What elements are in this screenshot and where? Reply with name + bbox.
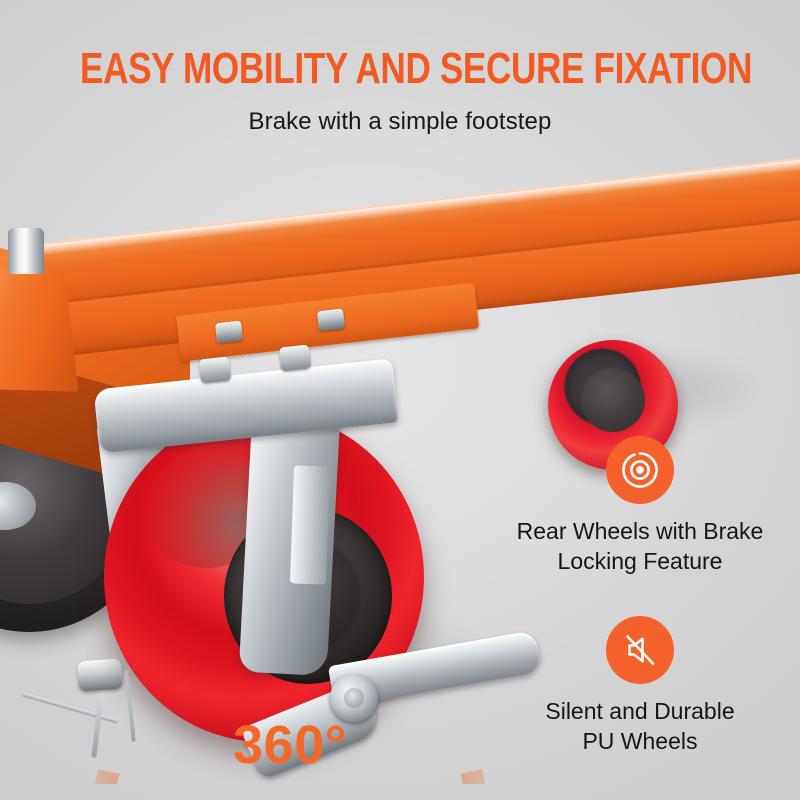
cotter-pin-clip <box>77 659 123 692</box>
feature-brake-locking: Rear Wheels with Brake Locking Feature <box>490 436 790 576</box>
page-title: EASY MOBILITY AND SECURE FIXATION <box>80 44 720 94</box>
feature-silent-wheels: Silent and Durable PU Wheels <box>490 616 790 756</box>
brake-latch-tab <box>290 465 330 584</box>
rear-wheel-hub <box>581 368 645 432</box>
rotation-badge: 360° <box>75 688 505 788</box>
feature-label-line-2: PU Wheels <box>582 728 697 754</box>
feature-label: Rear Wheels with Brake Locking Feature <box>490 516 790 576</box>
page-subtitle: Brake with a simple footstep <box>0 106 800 138</box>
fork-bolt <box>199 356 231 383</box>
brake-disc-icon <box>606 436 674 504</box>
fork-bolt <box>279 344 311 371</box>
feature-label-line-2: Locking Feature <box>558 548 723 574</box>
feature-label-line-1: Silent and Durable <box>545 698 734 724</box>
frame-beam-end-cap <box>0 268 78 392</box>
feature-label: Silent and Durable PU Wheels <box>490 696 790 756</box>
mount-bolt <box>215 321 243 344</box>
product-feature-banner: EASY MOBILITY AND SECURE FIXATION Brake … <box>0 0 800 800</box>
mute-speaker-icon <box>606 616 674 684</box>
mount-bolt <box>317 309 345 332</box>
chrome-post <box>8 228 44 274</box>
feature-label-line-1: Rear Wheels with Brake <box>517 518 764 544</box>
rotation-degrees-label: 360° <box>75 716 505 774</box>
